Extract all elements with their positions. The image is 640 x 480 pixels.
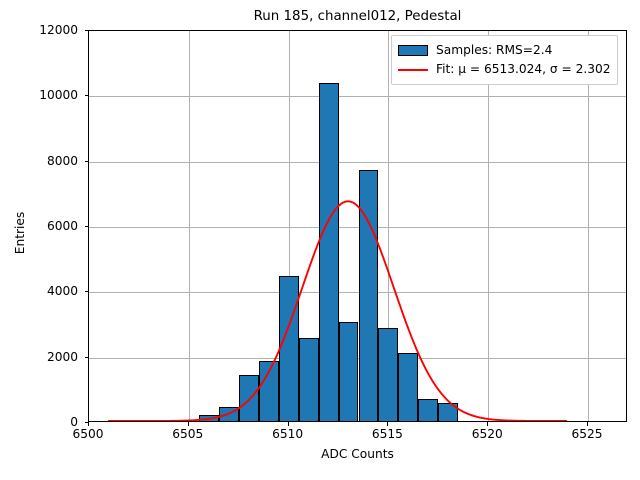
gridline-y-8000 [89, 162, 626, 163]
gridline-y-10000 [89, 96, 626, 97]
plot-area [88, 30, 627, 422]
histogram-bar [378, 328, 398, 422]
legend-item-fit: Fit: μ = 6513.024, σ = 2.302 [398, 60, 610, 79]
y-tick-mark [85, 161, 89, 162]
histogram-bar [259, 361, 279, 422]
gridline-x-6525 [588, 31, 589, 421]
y-tick-label-2000: 2000 [47, 350, 78, 364]
y-tick-label-12000: 12000 [39, 23, 78, 37]
chart-title: Run 185, channel012, Pedestal [88, 8, 627, 26]
histogram-bar [319, 83, 339, 422]
x-tick-mark [188, 422, 189, 426]
x-tick-mark [387, 422, 388, 426]
x-tick-mark [587, 422, 588, 426]
histogram-bar [219, 407, 239, 422]
histogram-bar [299, 338, 319, 422]
x-tick-mark [487, 422, 488, 426]
gridline-x-6505 [189, 31, 190, 421]
chart-figure: Run 185, channel012, Pedestal 6500650565… [0, 0, 640, 480]
y-tick-mark [85, 95, 89, 96]
gridline-y-4000 [89, 292, 626, 293]
x-tick-label-6520: 6520 [472, 427, 503, 441]
histogram-bar [398, 353, 418, 422]
x-tick-label-6505: 6505 [172, 427, 203, 441]
histogram-bar [359, 170, 379, 422]
histogram-bar [339, 322, 359, 422]
legend-swatch-fit-icon [398, 64, 428, 75]
legend-label-fit: Fit: μ = 6513.024, σ = 2.302 [436, 60, 610, 79]
y-tick-label-4000: 4000 [47, 284, 78, 298]
x-tick-label-6500: 6500 [72, 427, 103, 441]
histogram-bar [199, 415, 219, 422]
y-tick-label-10000: 10000 [39, 88, 78, 102]
y-axis-label: Entries [13, 133, 27, 333]
y-tick-label-8000: 8000 [47, 154, 78, 168]
legend-item-samples: Samples: RMS=2.4 [398, 41, 610, 60]
histogram-bar [438, 403, 458, 422]
y-tick-mark [85, 226, 89, 227]
x-axis-label: ADC Counts [88, 447, 627, 461]
y-tick-mark [85, 30, 89, 31]
y-tick-label-0: 0 [70, 415, 78, 429]
gridline-y-6000 [89, 227, 626, 228]
legend-label-samples: Samples: RMS=2.4 [436, 41, 552, 60]
legend-swatch-samples-icon [398, 45, 428, 56]
x-tick-mark [88, 422, 89, 426]
x-tick-mark [288, 422, 289, 426]
y-tick-label-6000: 6000 [47, 219, 78, 233]
histogram-bar [418, 399, 438, 422]
y-tick-mark [85, 357, 89, 358]
y-tick-mark [85, 291, 89, 292]
x-tick-label-6510: 6510 [272, 427, 303, 441]
histogram-bar [279, 276, 299, 422]
y-tick-mark [85, 422, 89, 423]
x-tick-label-6525: 6525 [572, 427, 603, 441]
gridline-x-6520 [488, 31, 489, 421]
x-tick-label-6515: 6515 [372, 427, 403, 441]
chart-legend: Samples: RMS=2.4 Fit: μ = 6513.024, σ = … [391, 35, 618, 85]
histogram-bar [239, 375, 259, 422]
